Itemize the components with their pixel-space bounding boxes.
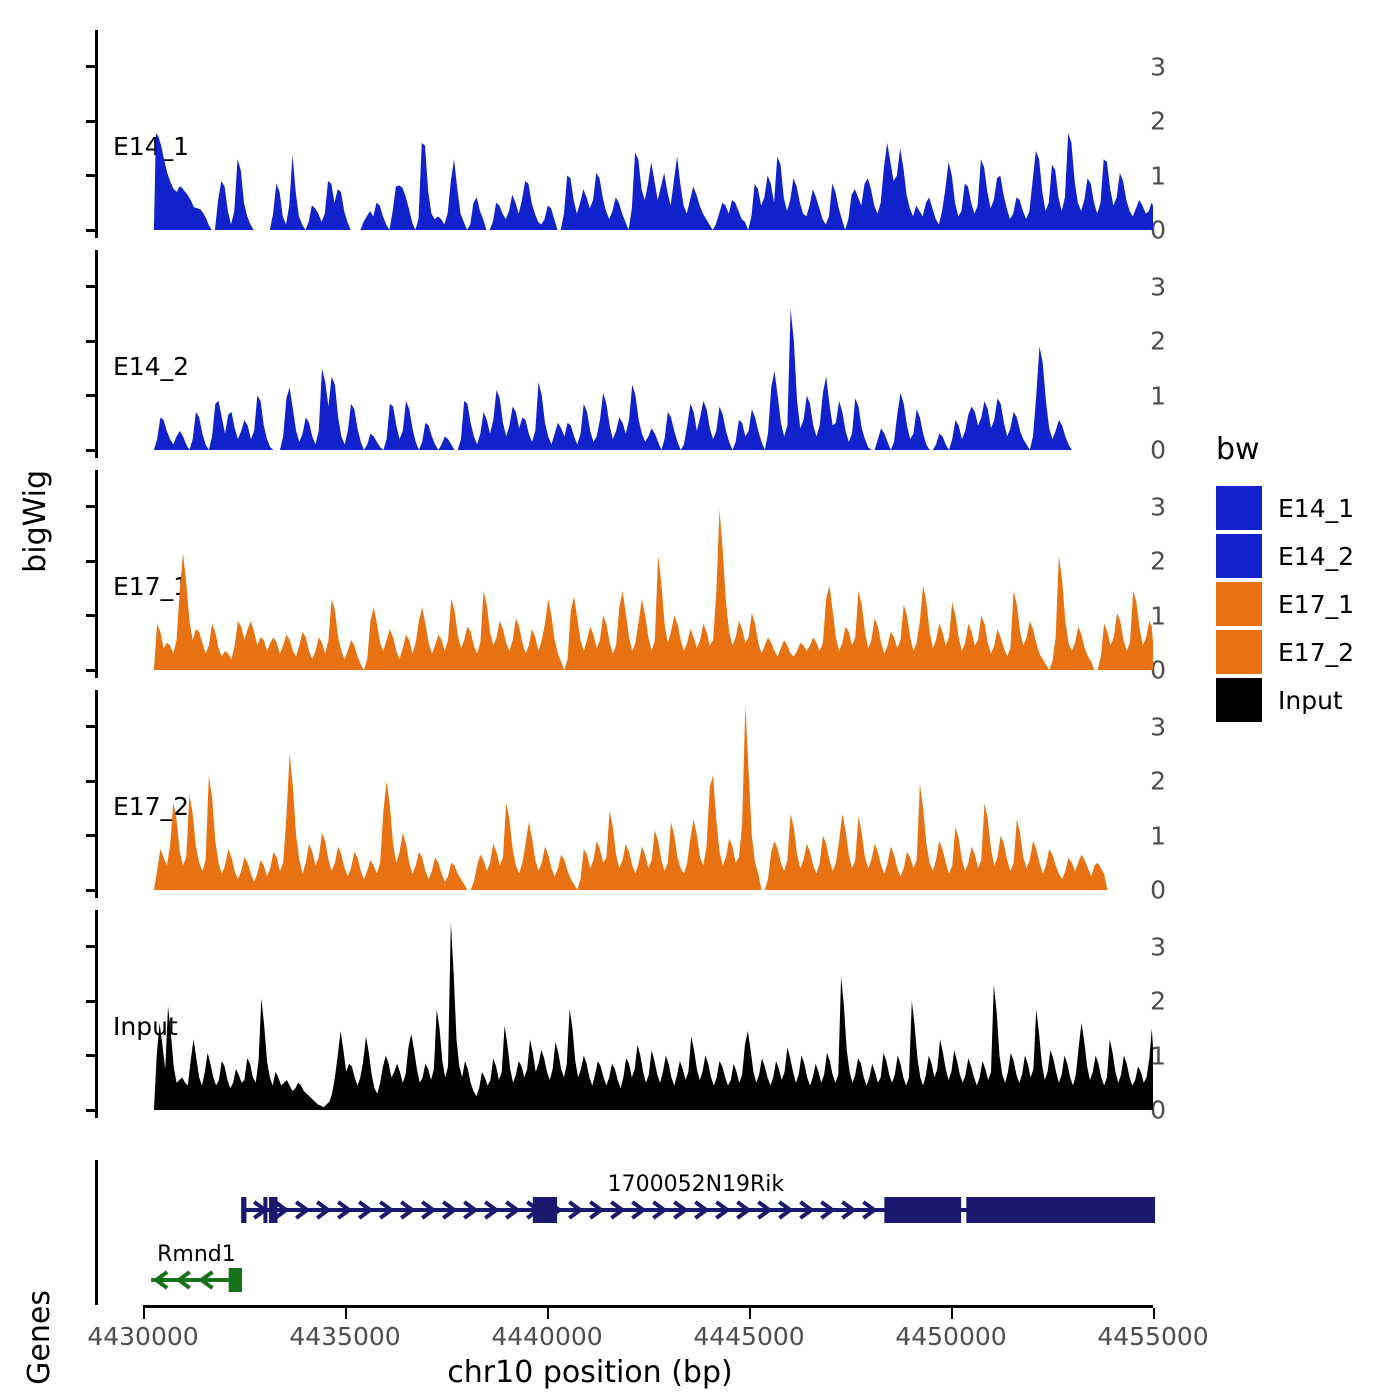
legend-item-e14_1[interactable]: E14_1 — [1216, 485, 1386, 531]
x-tick — [951, 1308, 953, 1319]
legend-item-e17_2[interactable]: E17_2 — [1216, 629, 1386, 675]
x-tick-label: 4430000 — [87, 1322, 198, 1351]
track-panel-e14_2: 0123E14_2 — [95, 250, 1180, 458]
track-plot-area — [95, 690, 1180, 898]
x-tick — [547, 1308, 549, 1319]
track-area-path — [154, 922, 1153, 1110]
track-plot-area — [95, 470, 1180, 678]
legend-swatch — [1216, 678, 1262, 722]
y-tick — [86, 780, 95, 783]
track-panel-e14_1: 0123E14_1 — [95, 30, 1180, 238]
legend-label: E14_2 — [1278, 542, 1354, 571]
legend-label: E17_2 — [1278, 638, 1354, 667]
track-area-path — [154, 308, 1072, 450]
gene-exon — [966, 1197, 1155, 1223]
legend-swatch — [1216, 486, 1262, 530]
y-axis-label-bigwig: bigWig — [18, 470, 53, 573]
track-plot-area — [95, 910, 1180, 1118]
y-tick — [86, 285, 95, 288]
y-tick — [86, 669, 95, 672]
y-tick — [86, 1054, 95, 1057]
legend-label: E17_1 — [1278, 590, 1354, 619]
y-tick — [86, 560, 95, 563]
x-axis-line — [143, 1305, 1153, 1308]
y-tick — [86, 120, 95, 123]
gene-label-rmnd1: Rmnd1 — [157, 1242, 236, 1267]
x-tick-label: 4450000 — [895, 1322, 1006, 1351]
track-area-path — [154, 705, 1107, 890]
gene-exon — [229, 1268, 242, 1292]
legend-title: bw — [1216, 432, 1386, 467]
track-plot-area — [95, 250, 1180, 458]
x-tick-label: 4445000 — [693, 1322, 804, 1351]
gene-label-rik: 1700052N19Rik — [608, 1172, 785, 1197]
y-tick — [86, 65, 95, 68]
legend-item-e17_1[interactable]: E17_1 — [1216, 581, 1386, 627]
legend: bw E14_1E14_2E17_1E17_2Input — [1216, 432, 1386, 725]
y-tick — [86, 174, 95, 177]
x-tick-label: 4440000 — [491, 1322, 602, 1351]
track-area-path — [154, 133, 1153, 230]
y-tick — [86, 394, 95, 397]
track-panel-input: 0123Input — [95, 910, 1180, 1118]
legend-swatch — [1216, 630, 1262, 674]
gene-exon — [241, 1197, 246, 1223]
x-tick — [749, 1308, 751, 1319]
legend-swatch — [1216, 534, 1262, 578]
legend-item-e14_2[interactable]: E14_2 — [1216, 533, 1386, 579]
genes-panel: 1700052N19Rik Rmnd1 — [95, 1160, 1180, 1305]
y-tick — [86, 834, 95, 837]
y-tick — [86, 1109, 95, 1112]
y-tick — [86, 945, 95, 948]
x-tick — [345, 1308, 347, 1319]
y-tick — [86, 1000, 95, 1003]
legend-label: E14_1 — [1278, 494, 1354, 523]
y-tick — [86, 725, 95, 728]
track-plot-area — [95, 30, 1180, 238]
legend-label: Input — [1278, 686, 1343, 715]
x-tick — [143, 1308, 145, 1319]
track-panel-e17_2: 0123E17_2 — [95, 690, 1180, 898]
x-tick-label: 4455000 — [1097, 1322, 1208, 1351]
y-tick — [86, 505, 95, 508]
y-tick — [86, 229, 95, 232]
x-tick-label: 4435000 — [289, 1322, 400, 1351]
legend-item-input[interactable]: Input — [1216, 677, 1386, 723]
gene-exon — [884, 1197, 961, 1223]
y-tick — [86, 449, 95, 452]
track-panel-e17_1: 0123E17_1 — [95, 470, 1180, 678]
x-axis-label: chr10 position (bp) — [0, 1355, 1180, 1390]
y-tick — [86, 614, 95, 617]
legend-items: E14_1E14_2E17_1E17_2Input — [1216, 485, 1386, 723]
y-tick — [86, 889, 95, 892]
y-tick — [86, 340, 95, 343]
x-tick — [1153, 1308, 1155, 1319]
genome-browser-figure: bigWig Genes chr10 position (bp) 0123E14… — [0, 0, 1400, 1400]
legend-swatch — [1216, 582, 1262, 626]
track-area-path — [154, 509, 1153, 670]
